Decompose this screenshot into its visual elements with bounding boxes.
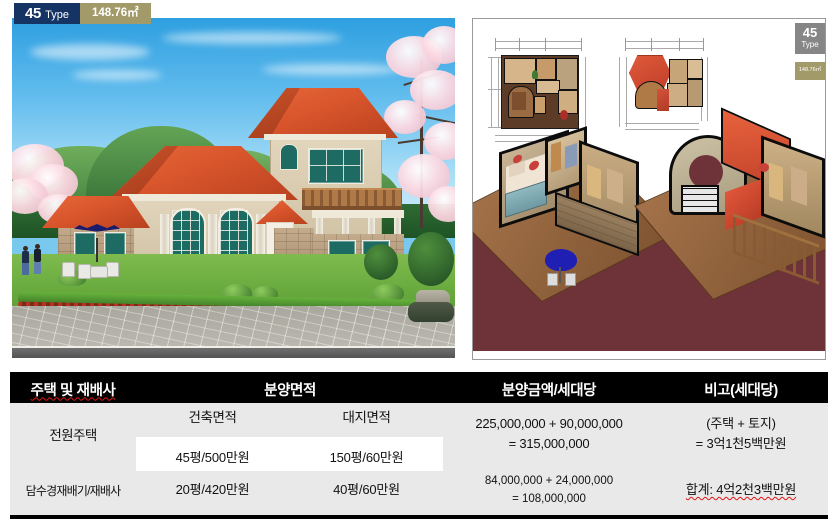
subheader-building-area: 건축면적 <box>136 403 289 429</box>
floorplan-badge-type-label: Type <box>795 39 825 50</box>
amount-line-2: = 315,000,000 <box>444 434 654 454</box>
exterior-rendering <box>12 18 455 358</box>
note-line-1: (주택 + 토지) <box>654 414 828 434</box>
type-badge-khaki: 148.76㎡ <box>80 3 151 24</box>
cell-building-area-row2: 20평/420만원 <box>136 465 289 517</box>
note-total: 합계: 4억2천3백만원 <box>686 482 796 497</box>
isometric-view-left <box>483 141 663 321</box>
cloud <box>162 32 342 44</box>
amount-line-1: 84,000,000 + 24,000,000 <box>444 472 654 490</box>
highlight-land-area: 150평/60만원 <box>290 447 443 466</box>
cell-note-row1: (주택 + 토지) = 3억1천5백만원 <box>654 403 828 465</box>
tree <box>408 232 454 286</box>
floorplan-type-badge: 45 Type 148.76㎡ <box>795 23 825 80</box>
table-row: 담수경재배기/재배사 20평/420만원 40평/60만원 84,000,000… <box>10 465 828 517</box>
floor-plan-2 <box>629 55 703 111</box>
table-header-row: 주택 및 재배사 분양면적 분양금액/세대당 비고(세대당) <box>10 374 828 404</box>
cloud <box>30 44 150 60</box>
rock <box>408 302 454 322</box>
floorplan-panel: 45 Type 148.76㎡ <box>472 18 826 360</box>
header-sale-area: 분양면적 <box>136 374 444 404</box>
type-badge-area: 148.76㎡ <box>92 3 139 24</box>
row-label-cultivation-house: 담수경재배기/재배사 <box>10 465 136 517</box>
header-sale-amount: 분양금액/세대당 <box>444 374 654 404</box>
cell-note-row2: 합계: 4억2천3백만원 <box>654 465 828 517</box>
road <box>12 348 455 358</box>
cell-land-area-row2: 40평/60만원 <box>289 465 444 517</box>
header-housing-label: 주택 및 재배사 <box>31 383 116 399</box>
header-remarks: 비고(세대당) <box>654 374 828 404</box>
tree <box>364 244 398 280</box>
floorplan-badge-gray: 45 Type <box>795 23 825 54</box>
type-badge-navy: 45 Type <box>14 3 80 24</box>
floorplan-badge-number: 45 <box>795 26 825 39</box>
type-badge-area-value: 148.76 <box>92 7 127 19</box>
subheader-land-area: 대지면적 <box>289 403 444 429</box>
patio-chair <box>62 262 75 277</box>
isometric-view-right <box>663 133 826 323</box>
floorplan-badge-area: 148.76㎡ <box>795 62 825 80</box>
type-badge-number: 45 <box>25 3 41 24</box>
type-badge-type-label: Type <box>45 5 69 26</box>
amount-line-2: = 108,000,000 <box>444 490 654 508</box>
note-line-2: = 3억1천5백만원 <box>654 434 828 454</box>
row-label-country-house: 전원주택 <box>10 403 136 465</box>
amount-line-1: 225,000,000 + 90,000,000 <box>444 414 654 434</box>
type-badge: 45 Type 148.76㎡ <box>14 3 151 24</box>
cell-amount-row2: 84,000,000 + 24,000,000 = 108,000,000 <box>444 465 654 517</box>
header-housing-and-cultivation: 주택 및 재배사 <box>10 374 136 404</box>
type-badge-area-unit: ㎡ <box>127 7 139 19</box>
cell-amount-row1: 225,000,000 + 90,000,000 = 315,000,000 <box>444 403 654 465</box>
cloud <box>72 70 162 80</box>
patio-table <box>90 266 108 278</box>
cloud <box>262 64 402 75</box>
floor-plan-1 <box>501 55 579 129</box>
highlight-building-area: 45평/500만원 <box>136 447 289 466</box>
table-subheader-row: 전원주택 건축면적 대지면적 225,000,000 + 90,000,000 … <box>10 403 828 429</box>
